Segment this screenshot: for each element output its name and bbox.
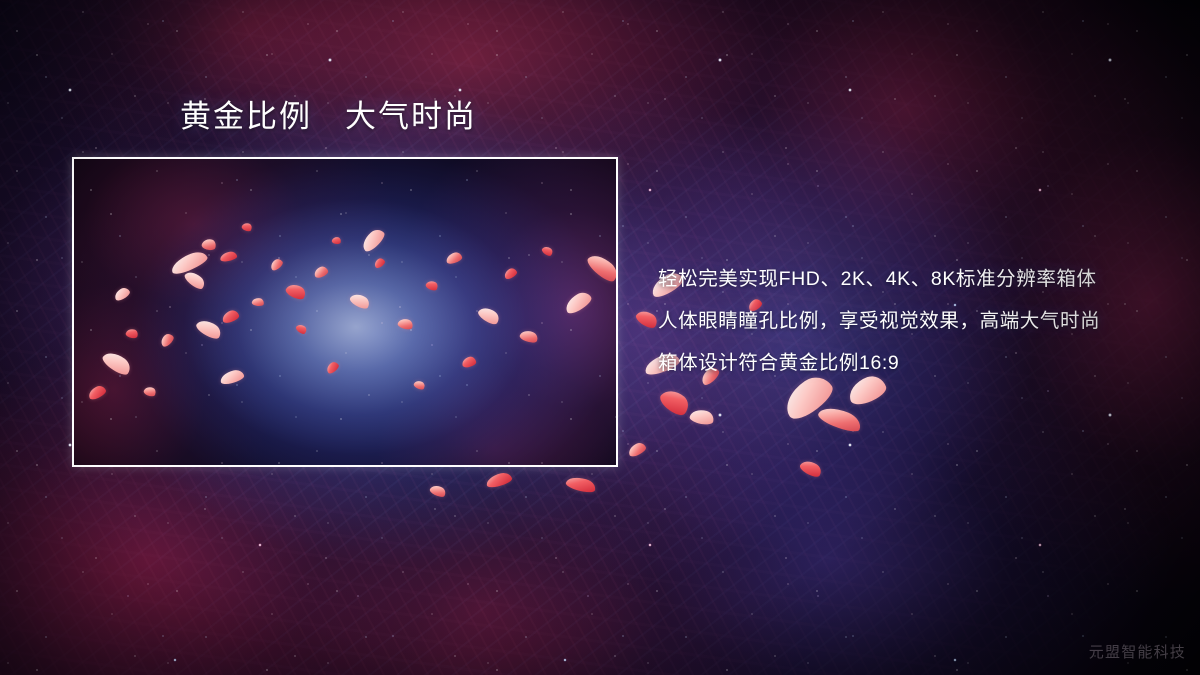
- presentation-slide: 黄金比例 大气时尚 轻松完美实现FHD、2K、4K、8K标准分辨率箱体 人体眼睛…: [0, 0, 1200, 675]
- body-line-1: 轻松完美实现FHD、2K、4K、8K标准分辨率箱体: [658, 258, 1178, 300]
- framed-nebula-image: [74, 159, 616, 465]
- watermark: 元盟智能科技: [1089, 641, 1186, 662]
- body-line-2: 人体眼睛瞳孔比例，享受视觉效果，高端大气时尚: [658, 300, 1178, 342]
- page-title: 黄金比例 大气时尚: [180, 101, 477, 132]
- image-frame: [72, 157, 618, 467]
- body-line-3: 箱体设计符合黄金比例16:9: [658, 342, 1178, 384]
- body-text-block: 轻松完美实现FHD、2K、4K、8K标准分辨率箱体 人体眼睛瞳孔比例，享受视觉效…: [658, 258, 1178, 384]
